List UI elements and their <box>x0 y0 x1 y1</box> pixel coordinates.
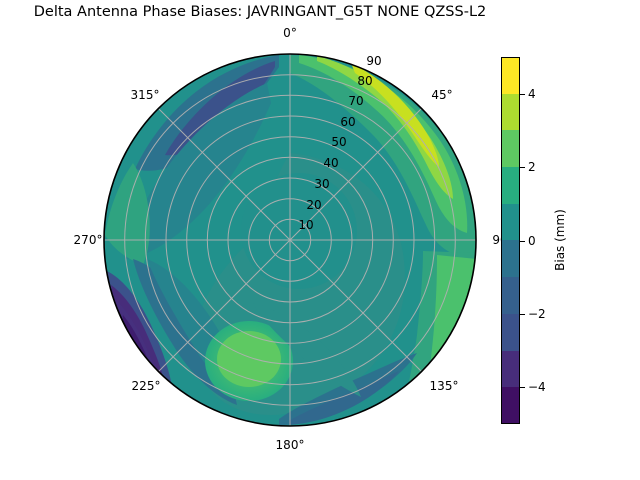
colorbar-tick-neg2 <box>520 314 525 315</box>
radial-label-60: 60 <box>340 115 355 129</box>
radial-label-80: 80 <box>357 74 372 88</box>
page-title: Delta Antenna Phase Biases: JAVRINGANT_G… <box>0 4 520 20</box>
radial-label-70: 70 <box>348 94 363 108</box>
colorbar-band-3 <box>501 130 520 167</box>
azimuth-label-180: 180° <box>276 438 305 452</box>
colorbar-ticklabel-0: 0 <box>528 234 536 248</box>
colorbar-ticklabel-4: 4 <box>528 87 536 101</box>
radial-label-10: 10 <box>298 218 313 232</box>
colorbar-band-n3 <box>501 351 520 388</box>
azimuth-label-225: 225° <box>132 379 161 393</box>
colorbar-ticklabel-neg4: −4 <box>528 380 546 394</box>
colorbar-band-1 <box>501 204 520 241</box>
azimuth-label-315: 315° <box>131 88 160 102</box>
polar-contour-svg <box>103 53 477 427</box>
colorbar-tick-2 <box>520 167 525 168</box>
colorbar-ticklabel-2: 2 <box>528 160 536 174</box>
colorbar-band-4 <box>501 94 520 131</box>
colorbar-band-2 <box>501 167 520 204</box>
radial-label-30: 30 <box>314 177 329 191</box>
colorbar-tick-neg4 <box>520 387 525 388</box>
radial-label-90: 90 <box>366 54 381 68</box>
radial-label-40: 40 <box>323 156 338 170</box>
polar-plot: 0° 45° 90 135° 180° 225° 270° 315° 10 20… <box>103 53 477 427</box>
polar-grid <box>104 54 476 426</box>
colorbar[interactable]: 4 2 0 −2 −4 <box>501 57 520 424</box>
colorbar-band-n1 <box>501 277 520 314</box>
colorbar-ticklabel-neg2: −2 <box>528 307 546 321</box>
azimuth-label-45: 45° <box>431 88 452 102</box>
radial-label-50: 50 <box>331 135 346 149</box>
colorbar-band-0 <box>501 240 520 277</box>
colorbar-band-5 <box>501 57 520 94</box>
figure-canvas: Delta Antenna Phase Biases: JAVRINGANT_G… <box>0 0 640 480</box>
azimuth-label-270: 270° <box>74 233 103 247</box>
colorbar-band-n4 <box>501 387 520 424</box>
colorbar-tick-4 <box>520 94 525 95</box>
radial-label-20: 20 <box>306 198 321 212</box>
colorbar-axis-label: Bias (mm) <box>553 209 567 271</box>
colorbar-band-n2 <box>501 314 520 351</box>
azimuth-label-0: 0° <box>283 26 297 40</box>
colorbar-tick-0 <box>520 241 525 242</box>
azimuth-label-135: 135° <box>430 379 459 393</box>
